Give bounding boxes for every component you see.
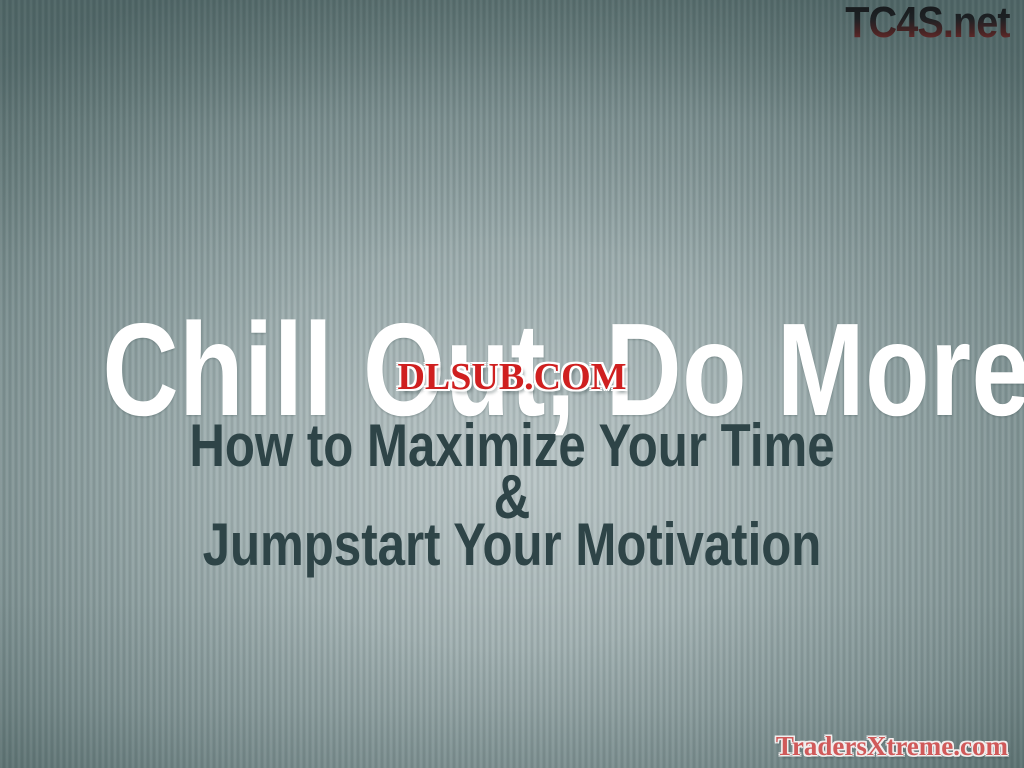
watermark-dlsub: DLSUB.COM — [397, 358, 626, 398]
slide-subtitle: How to Maximize Your Time & Jumpstart Yo… — [92, 418, 932, 572]
watermark-tradersxtreme: TradersXtreme.com — [776, 732, 1008, 762]
watermark-tc4s: TC4S.net — [846, 1, 1010, 45]
subtitle-line-2: Jumpstart Your Motivation — [92, 517, 932, 572]
watermark-dlsub-text: DLSUB.COM — [397, 356, 626, 398]
presentation-slide: TC4S.net Chill Out, Do More DLSUB.COM Ho… — [0, 0, 1024, 768]
